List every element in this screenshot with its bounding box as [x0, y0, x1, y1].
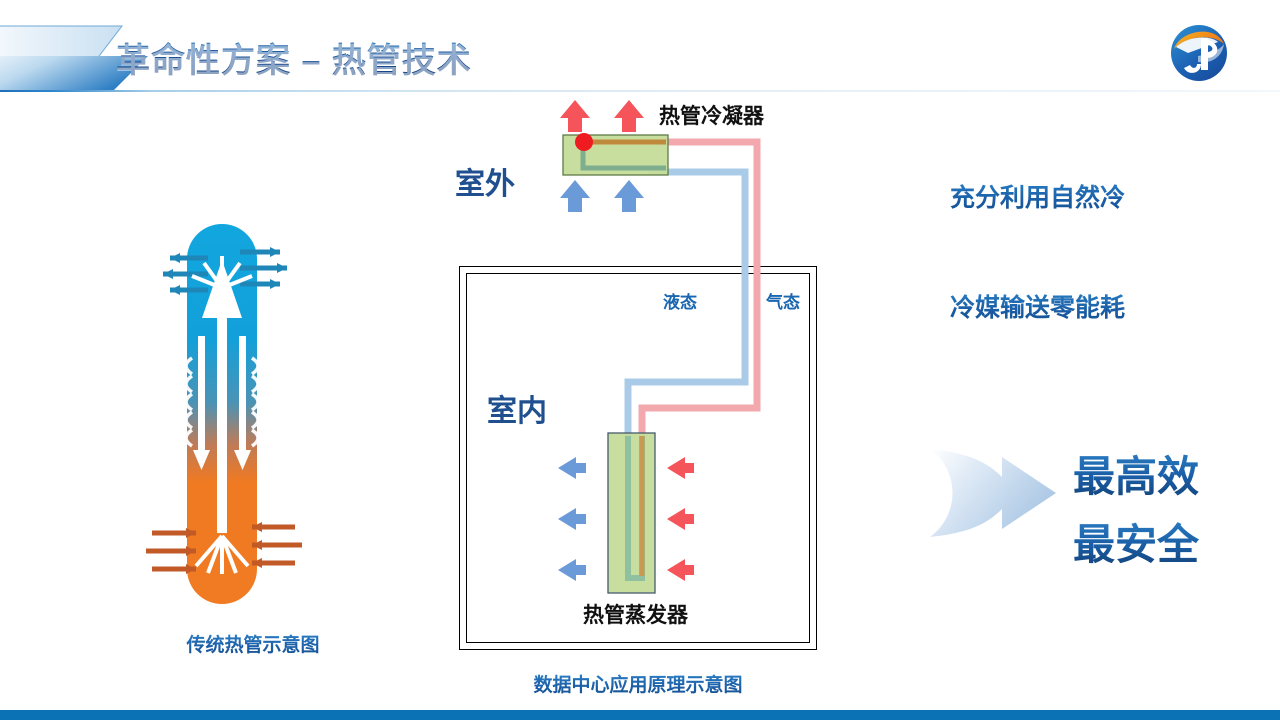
outdoor-hot-arrows-up — [560, 100, 644, 132]
footer-bar — [0, 710, 1280, 720]
right-chevron-arrow — [930, 443, 1060, 543]
benefit-text-2: 冷媒输送零能耗 — [950, 288, 1125, 324]
slide-root: 革命性方案 – 热管技术 — [0, 0, 1280, 720]
gas-phase-label: 气态 — [766, 288, 800, 313]
highlight-text-2: 最安全 — [1073, 511, 1199, 572]
outdoor-label: 室外 — [455, 159, 515, 203]
gas-pipe-line — [642, 142, 757, 440]
indoor-label: 室内 — [487, 386, 547, 430]
condenser-label: 热管冷凝器 — [659, 100, 764, 130]
evaporator-label: 热管蒸发器 — [583, 599, 688, 629]
outdoor-cold-arrows-up — [560, 180, 644, 212]
marker-dot — [575, 133, 593, 151]
liquid-phase-label: 液态 — [663, 288, 697, 313]
highlight-text-1: 最高效 — [1073, 443, 1199, 504]
center-diagram-caption: 数据中心应用原理示意图 — [460, 670, 816, 697]
heat-pipe-evaporator — [608, 433, 655, 593]
benefit-text-1: 充分利用自然冷 — [950, 178, 1125, 214]
heat-pipe-condenser — [563, 133, 668, 175]
indoor-hot-arrows-left — [667, 457, 694, 581]
indoor-cold-arrows-left — [558, 457, 586, 581]
